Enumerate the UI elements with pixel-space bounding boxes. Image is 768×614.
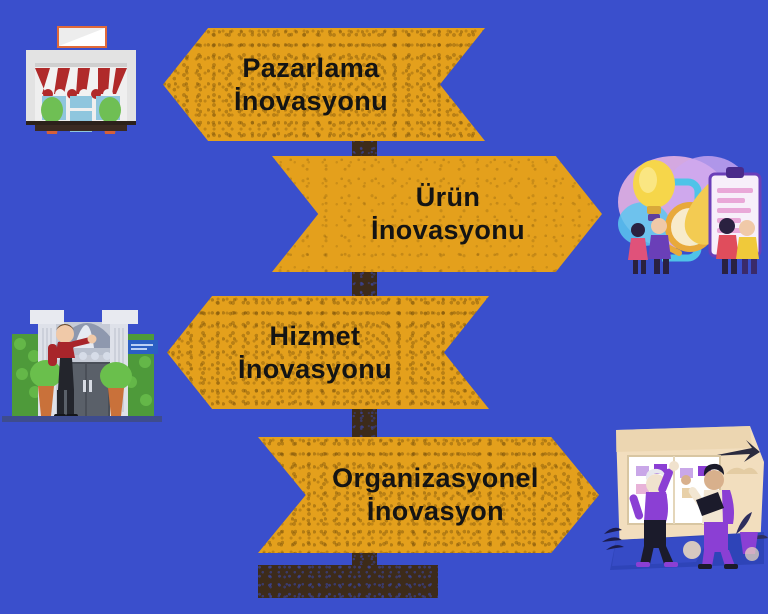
sign-banner-hizmet[interactable]: Hizmet İnovasyonu — [167, 296, 489, 409]
banner3-line2: İnovasyonu — [238, 353, 392, 386]
banner-text-block: Pazarlama İnovasyonu — [234, 52, 414, 118]
banner4-line2: İnovasyon — [332, 495, 539, 528]
banner3-line1: Hizmet — [238, 320, 392, 353]
banner4-line1: Organizasyonel — [332, 462, 539, 495]
banner1-line2: İnovasyonu — [234, 85, 388, 118]
banner2-line1: Ürün — [371, 181, 525, 214]
poster-canvas: Pazarlama İnovasyonu Ürün İnovasyonu Hiz… — [0, 0, 768, 614]
banner1-line1: Pazarlama — [234, 52, 388, 85]
signpost-base — [258, 565, 438, 598]
storefront-illustration — [12, 22, 150, 140]
sign-banner-organizasyonel[interactable]: Organizasyonel İnovasyon — [258, 437, 599, 553]
banner2-line2: İnovasyonu — [371, 214, 525, 247]
banner-text-block: Ürün İnovasyonu — [349, 181, 525, 247]
banner-text-block: Hizmet İnovasyonu — [238, 320, 418, 386]
hotel-doorman-illustration — [2, 282, 162, 422]
team-whiteboard-illustration — [600, 422, 768, 570]
sign-banner-urun[interactable]: Ürün İnovasyonu — [272, 156, 602, 272]
sign-banner-pazarlama[interactable]: Pazarlama İnovasyonu — [163, 28, 485, 141]
idea-lightbulb-illustration — [604, 142, 768, 275]
banner-text-block: Organizasyonel İnovasyon — [318, 462, 539, 528]
